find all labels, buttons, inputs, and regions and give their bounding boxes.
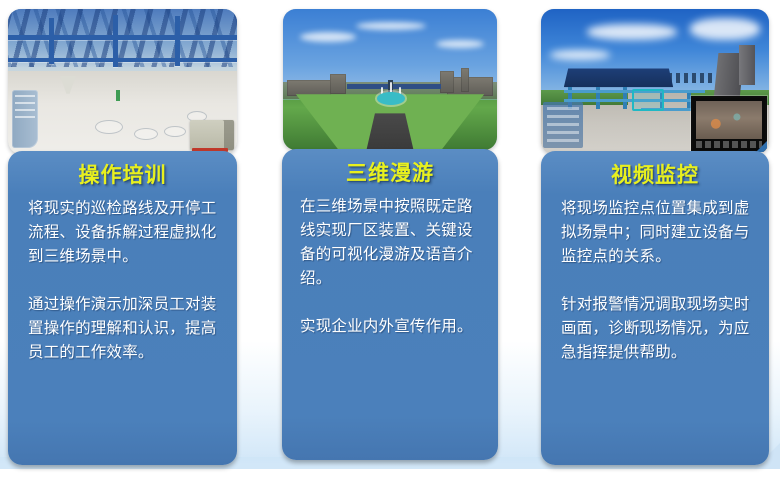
feature-panel-operation-training[interactable]: 操作培训 将现实的巡检路线及开停工流程、设备拆解过程虚拟化到三维场景中。 通过操… bbox=[8, 9, 237, 465]
panel-title: 视频监控 bbox=[549, 163, 761, 189]
scene-green-marker bbox=[116, 90, 120, 101]
scene-equipment bbox=[190, 120, 234, 150]
scene-building bbox=[287, 80, 331, 96]
thumbnail-indoor-industrial-plant[interactable] bbox=[8, 9, 237, 154]
panel-paragraph: 实现企业内外宣传作用。 bbox=[300, 315, 486, 339]
scene-floor-ring bbox=[134, 128, 158, 140]
panel-title: 三维漫游 bbox=[290, 161, 490, 187]
scene-building bbox=[440, 71, 454, 93]
panel-card-video-surveillance: 视频监控 将现场监控点位置集成到虚拟场景中；同时建立设备与监控点的关系。 针对报… bbox=[541, 151, 769, 465]
video-monitor-overlay[interactable] bbox=[691, 96, 767, 152]
panel-body: 在三维场景中按照既定路线实现厂区装置、关键设备的可视化漫游及语音介绍。 实现企业… bbox=[290, 195, 490, 339]
scene-floor-ring bbox=[95, 120, 123, 134]
panel-card-three-dimensional-roaming: 三维漫游 在三维场景中按照既定路线实现厂区装置、关键设备的可视化漫游及语音介绍。… bbox=[282, 149, 498, 460]
video-monitor-controlbar[interactable] bbox=[696, 141, 762, 148]
panel-card-operation-training: 操作培训 将现实的巡检路线及开停工流程、设备拆解过程虚拟化到三维场景中。 通过操… bbox=[8, 151, 237, 465]
scene-cloud bbox=[690, 18, 760, 40]
panel-paragraph: 通过操作演示加深员工对装置操作的理解和认识，提高员工的工作效率。 bbox=[28, 293, 225, 365]
thumbnail-plant-with-video-monitor[interactable] bbox=[541, 9, 769, 154]
feature-panel-deck: 操作培训 将现实的巡检路线及开停工流程、设备拆解过程虚拟化到三维场景中。 通过操… bbox=[0, 0, 780, 491]
scene-beam bbox=[8, 35, 237, 40]
panel-body: 将现场监控点位置集成到虚拟场景中；同时建立设备与监控点的关系。 针对报警情况调取… bbox=[549, 197, 761, 365]
scene-building bbox=[461, 68, 469, 92]
thumbnail-outdoor-plant-lawn[interactable] bbox=[283, 9, 497, 150]
panel-paragraph: 针对报警情况调取现场实时画面，诊断现场情况，为应急指挥提供帮助。 bbox=[561, 293, 757, 365]
feature-panel-video-surveillance[interactable]: 视频监控 将现场监控点位置集成到虚拟场景中；同时建立设备与监控点的关系。 针对报… bbox=[541, 9, 769, 465]
feature-panel-three-dimensional-roaming[interactable]: 三维漫游 在三维场景中按照既定路线实现厂区装置、关键设备的可视化漫游及语音介绍。… bbox=[282, 9, 498, 460]
scene-hud-overlay bbox=[543, 102, 583, 148]
scene-teal-unit bbox=[632, 89, 664, 111]
scene-blue-canopy bbox=[564, 68, 673, 87]
panel-paragraph: 将现实的巡检路线及开停工流程、设备拆解过程虚拟化到三维场景中。 bbox=[28, 197, 225, 269]
panel-body: 将现实的巡检路线及开停工流程、设备拆解过程虚拟化到三维场景中。 通过操作演示加深… bbox=[16, 197, 229, 365]
scene-column bbox=[175, 16, 180, 65]
scene-floor-ring bbox=[164, 126, 186, 137]
scene-wall-panel bbox=[12, 90, 38, 148]
scene-building bbox=[330, 74, 346, 94]
scene-column bbox=[49, 18, 54, 64]
scene-cloud bbox=[300, 32, 356, 42]
scene-cloud bbox=[356, 22, 426, 30]
panel-paragraph: 将现场监控点位置集成到虚拟场景中；同时建立设备与监控点的关系。 bbox=[561, 197, 757, 269]
panel-title: 操作培训 bbox=[16, 163, 229, 189]
scene-blue-roof bbox=[403, 84, 442, 89]
scene-cloud bbox=[436, 40, 484, 48]
video-monitor-screen bbox=[696, 101, 762, 139]
scene-cloud bbox=[587, 24, 677, 40]
scene-beam bbox=[8, 58, 237, 62]
panel-paragraph: 在三维场景中按照既定路线实现厂区装置、关键设备的可视化漫游及语音介绍。 bbox=[300, 195, 486, 291]
scene-cloud bbox=[550, 50, 610, 60]
scene-column bbox=[113, 15, 118, 67]
scene-tower bbox=[739, 45, 755, 85]
scene-fountain-pool bbox=[377, 92, 405, 105]
